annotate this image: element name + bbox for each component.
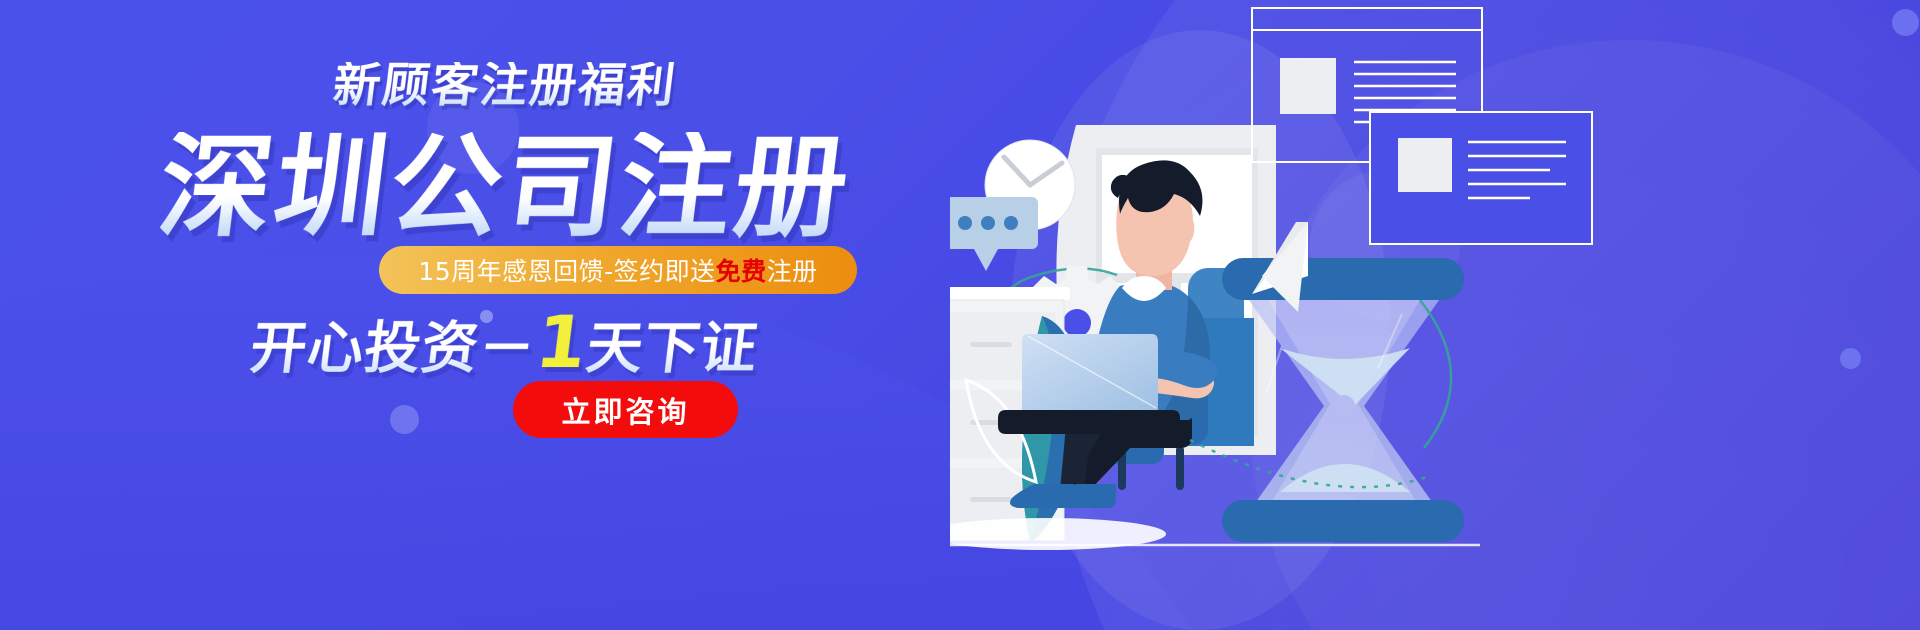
- promo-badge-prefix: 15周年感恩回馈-签约即送: [418, 252, 715, 288]
- tagline: 新顾客注册福利: [0, 62, 1013, 109]
- promo-banner: 新顾客注册福利 深圳公司注册 15周年感恩回馈-签约即送免费注册 开心投资－1天…: [0, 0, 1920, 630]
- hero-illustration: [950, 0, 1920, 630]
- subline-prefix: 开心投资－: [247, 316, 540, 381]
- consult-now-button-label: 立即咨询: [561, 389, 689, 431]
- subline: 开心投资－1天下证: [0, 306, 1014, 378]
- page-title: 深圳公司注册: [0, 132, 1017, 244]
- consult-now-button[interactable]: 立即咨询: [513, 381, 738, 438]
- promo-badge: 15周年感恩回馈-签约即送免费注册: [379, 246, 857, 294]
- promo-badge-suffix: 注册: [767, 252, 818, 288]
- laptop: [998, 334, 1180, 434]
- promo-badge-highlight: 免费: [716, 252, 767, 288]
- subline-suffix: 天下证: [583, 316, 762, 381]
- document-card-front: [1370, 112, 1592, 244]
- copy-block: 新顾客注册福利 深圳公司注册 15周年感恩回馈-签约即送免费注册 开心投资－1天…: [0, 0, 1010, 630]
